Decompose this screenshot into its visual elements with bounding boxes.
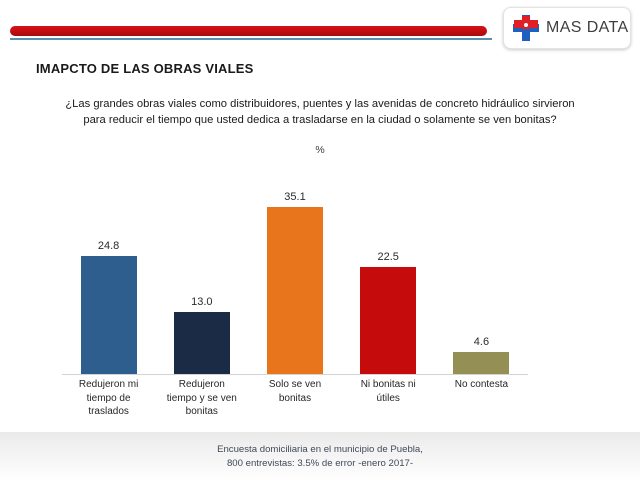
brand-logo: MAS DATA <box>503 7 631 49</box>
slide-root: MAS DATA IMAPCTO DE LAS OBRAS VIALES ¿La… <box>0 0 640 480</box>
x-axis-category-label: Solo se venbonitas <box>248 378 341 419</box>
header-band: MAS DATA <box>0 0 640 58</box>
question-line-1: ¿Las grandes obras viales como distribui… <box>42 96 598 112</box>
x-axis-category-label: Ni bonitas niútiles <box>342 378 435 419</box>
bar-series: 24.813.035.122.54.6 <box>62 162 528 374</box>
bar-value-label: 22.5 <box>378 251 399 263</box>
bar-value-label: 35.1 <box>284 191 305 203</box>
header-red-rule <box>10 26 487 36</box>
bar[interactable] <box>453 352 509 374</box>
x-axis-category-label: Redujerontiempo y se venbonitas <box>155 378 248 419</box>
x-axis-category-label: No contesta <box>435 378 528 419</box>
bar-value-label: 13.0 <box>191 296 212 308</box>
bar-value-label: 24.8 <box>98 240 119 252</box>
bar-group: 24.8 <box>62 162 155 374</box>
bar-chart: % 24.813.035.122.54.6 Redujeron mitiempo… <box>62 140 574 410</box>
x-axis-category-labels: Redujeron mitiempo detrasladosRedujeront… <box>62 378 528 419</box>
bar[interactable] <box>81 256 137 374</box>
bar-group: 22.5 <box>342 162 435 374</box>
survey-question: ¿Las grandes obras viales como distribui… <box>42 96 598 128</box>
bar-value-label: 4.6 <box>474 336 489 348</box>
medical-cross-icon <box>513 15 539 41</box>
footer-line-1: Encuesta domiciliaria en el municipio de… <box>0 443 640 457</box>
axis-unit-label: % <box>308 144 332 156</box>
footer-line-2: 800 entrevistas: 3.5% de error -enero 20… <box>0 457 640 471</box>
bar-group: 4.6 <box>435 162 528 374</box>
footer-source-note: Encuesta domiciliaria en el municipio de… <box>0 443 640 471</box>
x-axis-category-label: Redujeron mitiempo detraslados <box>62 378 155 419</box>
bar[interactable] <box>174 312 230 374</box>
bar-group: 13.0 <box>155 162 248 374</box>
question-line-2: para reducir el tiempo que usted dedica … <box>42 112 598 128</box>
page-title: IMAPCTO DE LAS OBRAS VIALES <box>36 61 254 76</box>
x-axis-line <box>62 374 528 375</box>
header-blue-rule <box>10 38 492 40</box>
bar[interactable] <box>267 207 323 374</box>
bar[interactable] <box>360 267 416 374</box>
chart-plot-area: 24.813.035.122.54.6 Redujeron mitiempo d… <box>62 162 574 352</box>
brand-name: MAS DATA <box>546 19 629 37</box>
bar-group: 35.1 <box>248 162 341 374</box>
